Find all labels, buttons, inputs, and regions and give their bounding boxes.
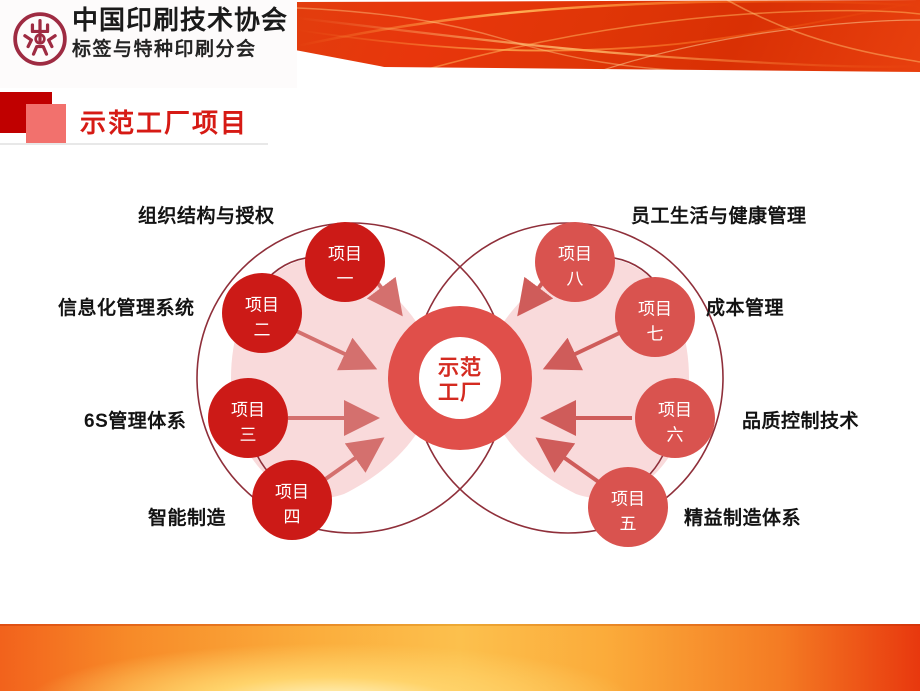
node-p6[interactable]: 项目 六	[635, 378, 715, 458]
label-p6: 品质控制技术	[742, 409, 859, 432]
page-title: 示范工厂项目	[80, 103, 248, 140]
node-p2-num: 二	[254, 320, 271, 339]
node-p2[interactable]: 项目 二	[222, 273, 302, 353]
core-label-line1: 示范	[438, 357, 482, 380]
node-p1-prefix: 项目	[328, 244, 362, 263]
node-p5[interactable]: 项目 五	[588, 467, 668, 547]
label-p7: 成本管理	[706, 296, 784, 319]
node-p4-num: 四	[284, 507, 301, 526]
label-p2: 信息化管理系统	[58, 296, 195, 319]
node-p3-num: 三	[240, 425, 257, 444]
label-p5: 精益制造体系	[684, 506, 801, 529]
logo-text-group: 中国印刷技术协会 标签与特种印刷分会	[72, 5, 287, 63]
node-p8-num: 八	[567, 269, 584, 288]
header-banner-waves	[297, 0, 920, 72]
node-p6-prefix: 项目	[658, 400, 692, 419]
slide-root: 中国印刷技术协会 标签与特种印刷分会 示范工厂项目	[0, 0, 920, 691]
footer-top-edge	[0, 624, 920, 626]
factory-model-diagram: 示范 工厂 项目 一 项目 二 项目 三	[0, 150, 920, 590]
node-p3-prefix: 项目	[231, 400, 265, 419]
label-p3: 6S管理体系	[84, 409, 186, 432]
node-p5-num: 五	[620, 514, 637, 533]
header-banner	[297, 0, 920, 72]
node-p3[interactable]: 项目 三	[208, 378, 288, 458]
footer-banner	[0, 624, 920, 691]
node-p7-prefix: 项目	[638, 299, 672, 318]
logo-block: 中国印刷技术协会 标签与特种印刷分会	[0, 0, 297, 88]
node-p1-num: 一	[337, 269, 354, 288]
logo-title: 中国印刷技术协会	[72, 5, 287, 35]
node-p5-prefix: 项目	[611, 489, 645, 508]
core-hub: 示范 工厂	[388, 306, 532, 450]
core-label-line2: 工厂	[438, 382, 482, 405]
node-p8-prefix: 项目	[558, 244, 592, 263]
label-p4: 智能制造	[148, 506, 227, 529]
node-p1[interactable]: 项目 一	[305, 222, 385, 302]
node-p7-num: 七	[647, 324, 664, 343]
node-p4-prefix: 项目	[275, 482, 309, 501]
logo-subtitle: 标签与特种印刷分会	[72, 37, 287, 63]
node-p7[interactable]: 项目 七	[615, 277, 695, 357]
node-p4[interactable]: 项目 四	[252, 460, 332, 540]
title-square-light	[26, 104, 66, 145]
association-emblem-icon	[13, 12, 67, 66]
title-divider	[0, 143, 268, 145]
label-p1: 组织结构与授权	[138, 204, 275, 227]
node-p8[interactable]: 项目 八	[535, 222, 615, 302]
node-p6-num: 六	[667, 425, 684, 444]
label-p8: 员工生活与健康管理	[631, 204, 807, 227]
node-p2-prefix: 项目	[245, 295, 279, 314]
